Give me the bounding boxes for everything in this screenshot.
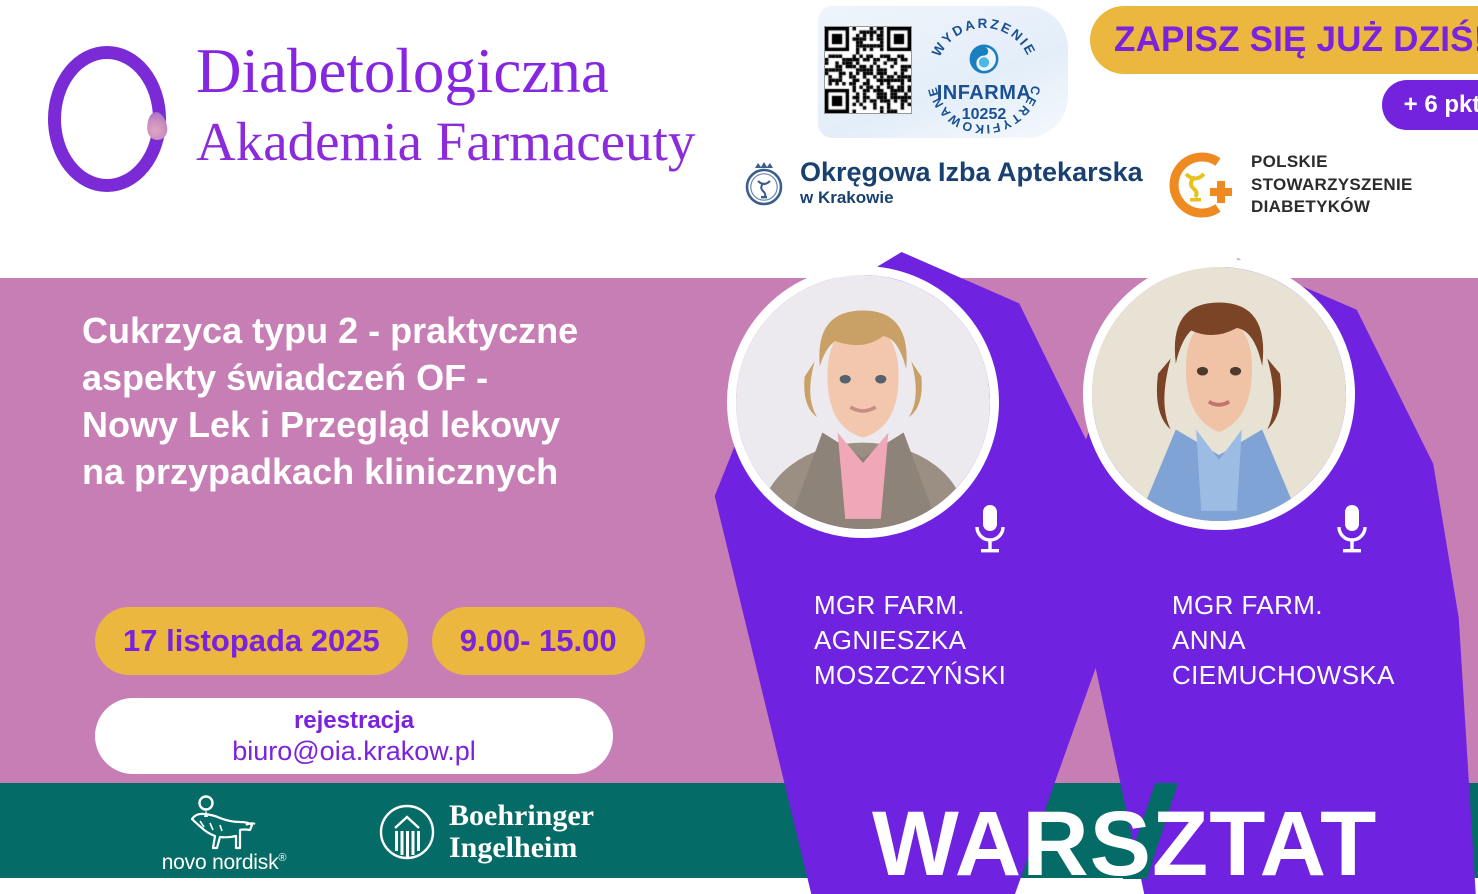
event-time-label: 9.00- 15.00 (460, 623, 617, 659)
sponsor-boehringer-line-1: Boehringer (449, 800, 594, 832)
speaker-photo-2 (1083, 258, 1355, 530)
brand-line-1: Diabetologiczna (196, 38, 695, 104)
speaker-portrait-icon (1092, 267, 1346, 521)
partner-psd: POLSKIE STOWARZYSZENIE DIABETYKÓW (1160, 146, 1413, 224)
points-badge: + 6 pkt (1382, 80, 1478, 130)
speaker-2-first-name: ANNA (1172, 623, 1395, 658)
registration-label: rejestracja (95, 706, 613, 735)
qr-code-icon[interactable] (824, 26, 912, 114)
psd-c-plus-icon (1160, 146, 1238, 224)
registration-email[interactable]: biuro@oia.krakow.pl (95, 735, 613, 769)
registration-box[interactable]: rejestracja biuro@oia.krakow.pl (95, 698, 613, 774)
event-title: Cukrzyca typu 2 - praktyczne aspekty świ… (82, 307, 682, 496)
points-label: + 6 pkt (1404, 91, 1478, 119)
event-schedule: 17 listopada 2025 9.00- 15.00 (95, 607, 645, 675)
infarma-swirl-icon (967, 42, 1001, 76)
partner-psd-text: POLSKIE STOWARZYSZENIE DIABETYKÓW (1251, 151, 1413, 218)
event-title-line-3: Nowy Lek i Przegląd lekowy (82, 401, 682, 448)
partner-oia-krakow: Okręgowa Izba Aptekarska w Krakowie (742, 158, 1143, 208)
partner-oia-line-1: Okręgowa Izba Aptekarska (800, 158, 1143, 188)
certification-badge: WYDARZENIE CERTYFIKOWANE INFARMA 10252 (808, 6, 1078, 146)
brand-logo: Diabetologiczna Akademia Farmaceuty (48, 38, 688, 213)
speaker-1-first-name: AGNIESZKA (814, 623, 1006, 658)
speaker-portrait-icon (736, 275, 990, 529)
register-cta-banner[interactable]: ZAPISZ SIĘ JUŻ DZIŚ! (1090, 6, 1478, 74)
brand-line-2: Akademia Farmaceuty (196, 110, 695, 173)
partner-psd-line-3: DIABETYKÓW (1251, 196, 1413, 218)
sponsor-boehringer-line-2: Ingelheim (449, 832, 594, 864)
event-title-line-1: Cukrzyca typu 2 - praktyczne (82, 307, 682, 354)
microphone-icon (1332, 503, 1372, 557)
certification-seal: WYDARZENIE CERTYFIKOWANE INFARMA 10252 (920, 12, 1048, 140)
partner-oia-text: Okręgowa Izba Aptekarska w Krakowie (800, 158, 1143, 208)
speaker-name-1: MGR FARM. AGNIESZKA MOSZCZYŃSKI (814, 588, 1006, 693)
partner-psd-line-1: POLSKIE (1251, 151, 1413, 173)
speaker-2-last-name: CIEMUCHOWSKA (1172, 658, 1395, 693)
sponsor-boehringer-text: Boehringer Ingelheim (449, 800, 594, 865)
brand-wordmark: Diabetologiczna Akademia Farmaceuty (196, 38, 695, 173)
speaker-photo-1 (727, 266, 999, 538)
sponsor-novo-nordisk: novo nordisk® (158, 795, 290, 875)
event-date-label: 17 listopada 2025 (123, 623, 380, 659)
certification-center: INFARMA 10252 (920, 42, 1048, 124)
speaker-1-prefix: MGR FARM. (814, 588, 1006, 623)
certification-org: INFARMA (920, 82, 1048, 105)
event-date-pill: 17 listopada 2025 (95, 607, 408, 675)
microphone-icon (970, 503, 1010, 557)
event-time-pill: 9.00- 15.00 (432, 607, 645, 675)
certification-number: 10252 (920, 106, 1048, 124)
pharmacy-seal-icon (742, 159, 786, 207)
sponsor-novo-trademark: ® (278, 852, 286, 864)
sponsor-novo-nordisk-label: novo nordisk® (158, 851, 290, 875)
register-cta-label: ZAPISZ SIĘ JUŻ DZIŚ! (1114, 20, 1478, 60)
apis-bull-icon (176, 795, 272, 850)
event-poster: Diabetologiczna Akademia Farmaceuty WYDA… (0, 0, 1478, 894)
speaker-name-2: MGR FARM. ANNA CIEMUCHOWSKA (1172, 588, 1395, 693)
speaker-1-last-name: MOSZCZYŃSKI (814, 658, 1006, 693)
event-title-line-2: aspekty świadczeń OF - (82, 354, 682, 401)
partner-oia-line-2: w Krakowie (800, 188, 1143, 208)
event-title-line-4: na przypadkach klinicznych (82, 448, 682, 495)
partner-psd-line-2: STOWARZYSZENIE (1251, 174, 1413, 196)
event-type-label: WARSZTAT (872, 798, 1377, 890)
sponsor-boehringer-ingelheim: Boehringer Ingelheim (378, 800, 594, 865)
sponsor-novo-name: novo nordisk (162, 851, 279, 874)
speaker-2-prefix: MGR FARM. (1172, 588, 1395, 623)
boehringer-columns-icon (378, 803, 436, 861)
